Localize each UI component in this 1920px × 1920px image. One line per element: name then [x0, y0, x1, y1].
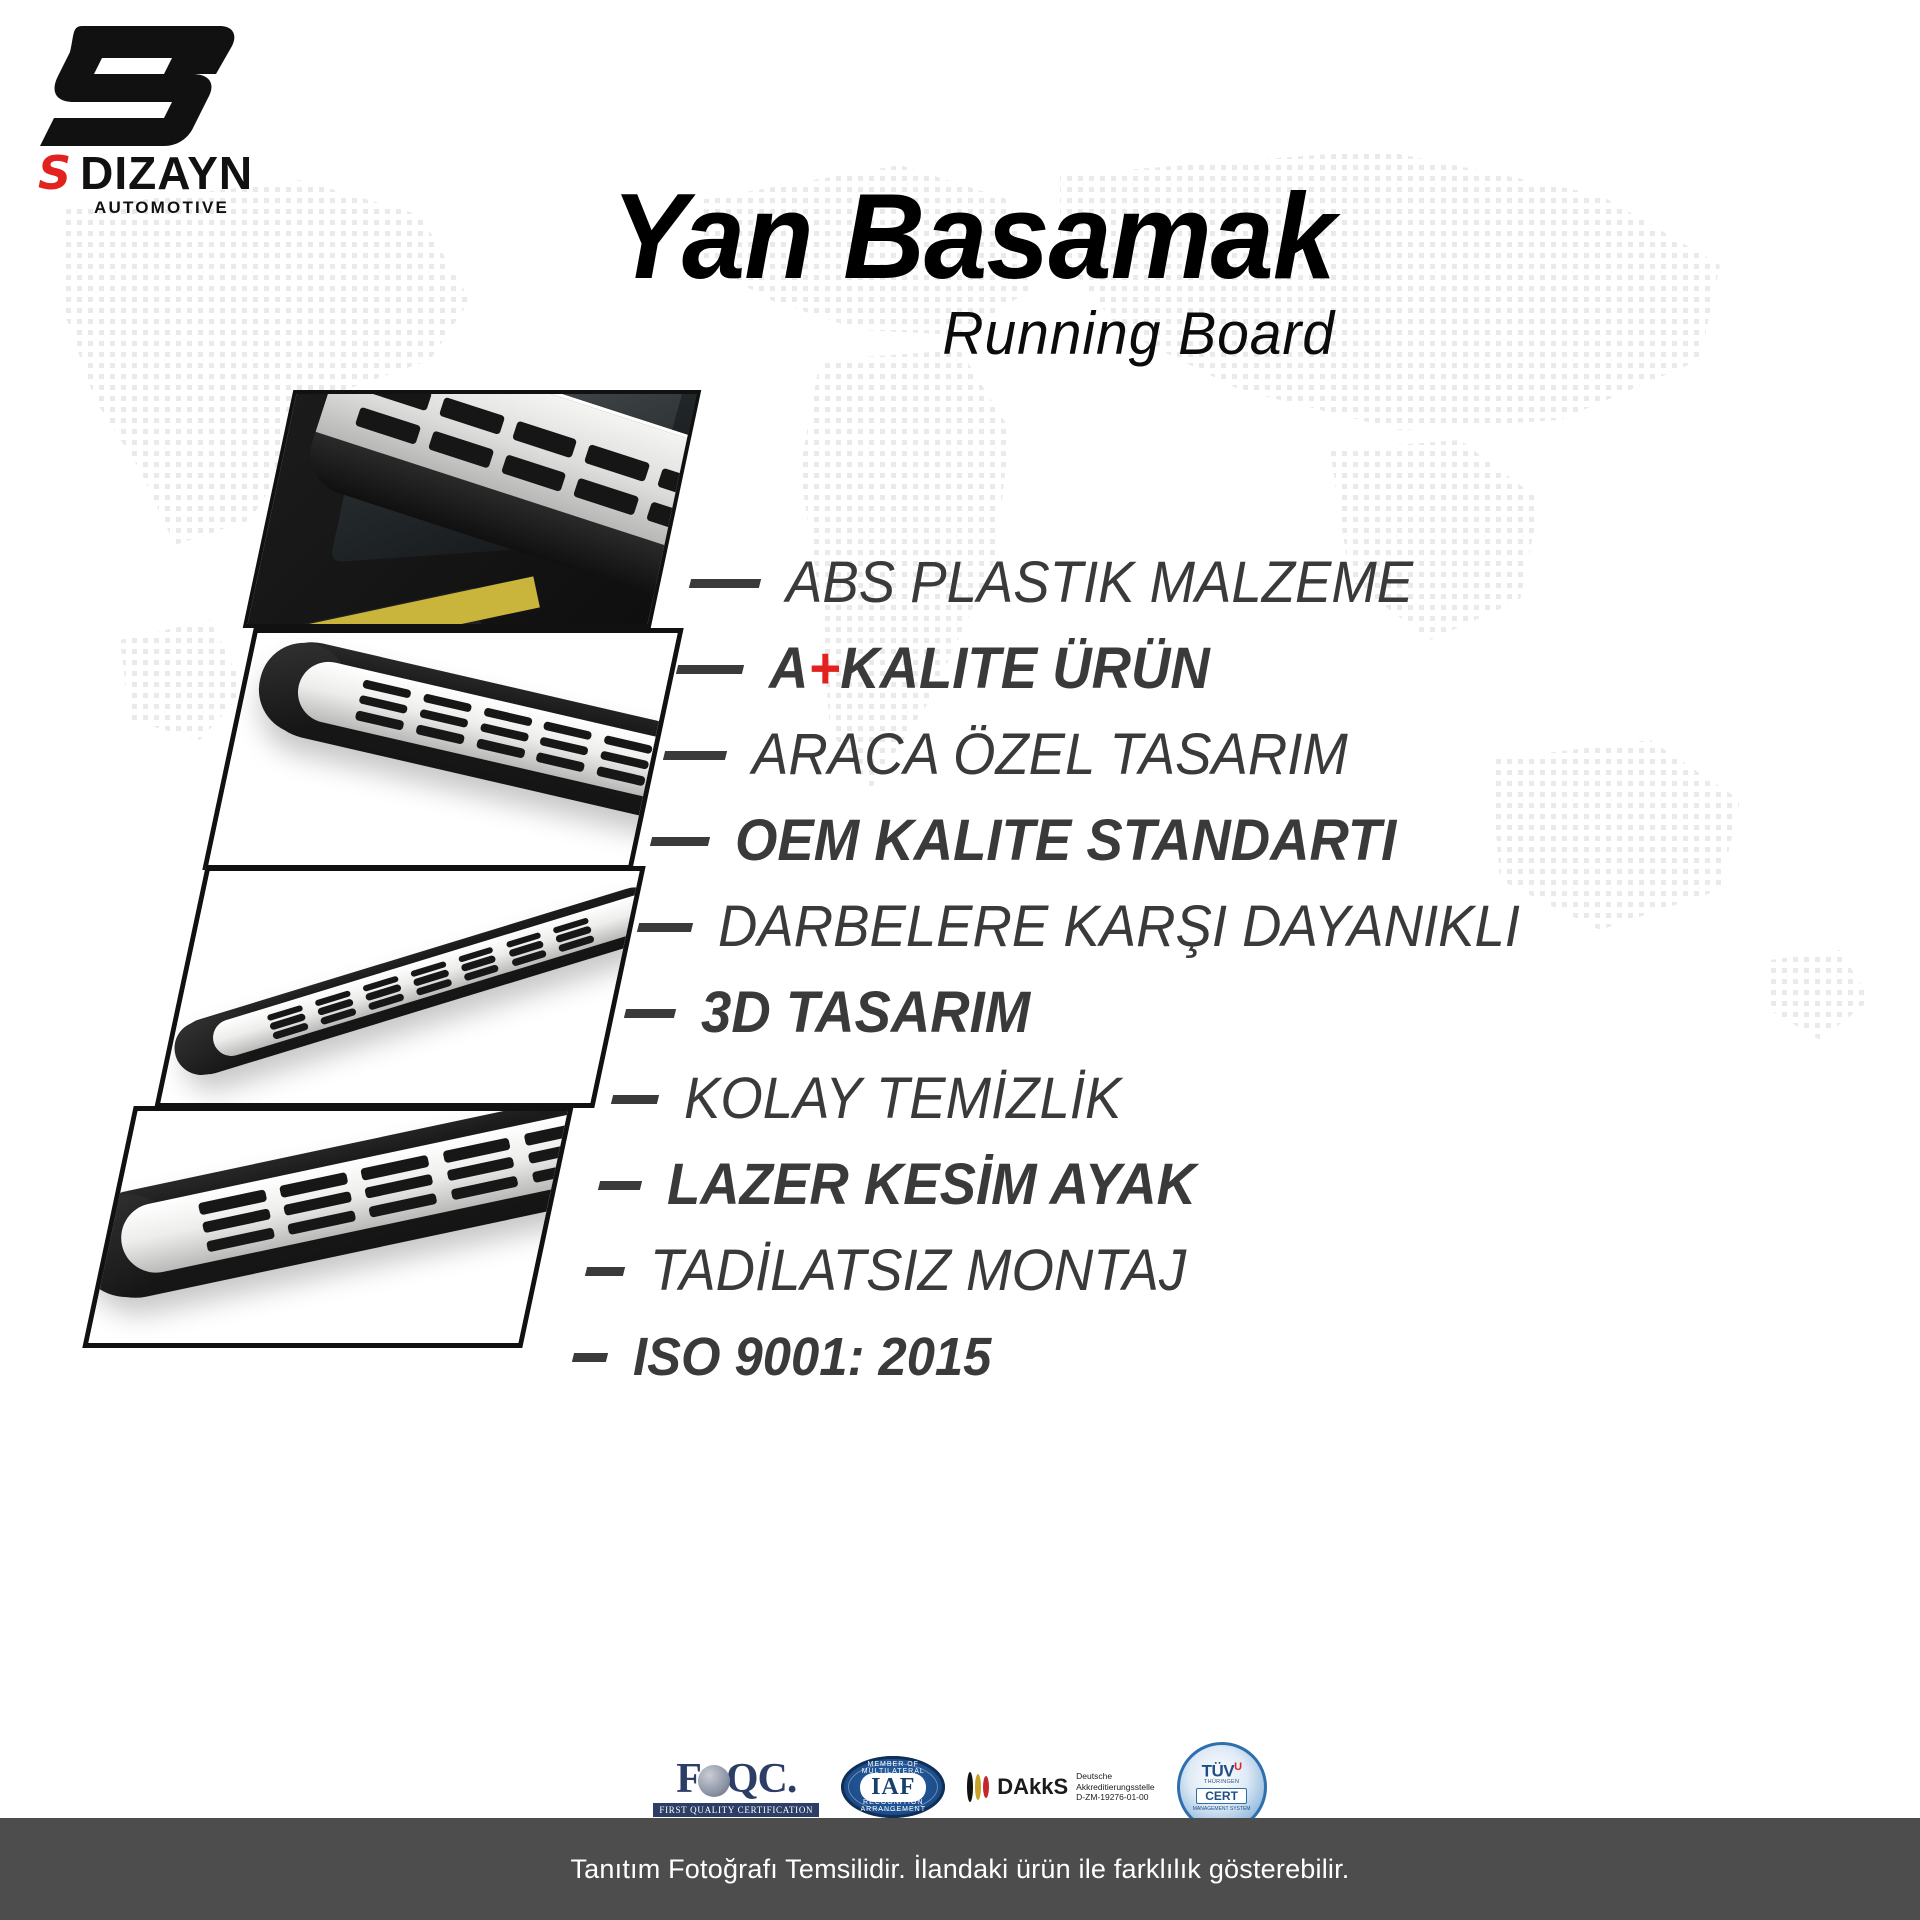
brand-name: DIZAYN: [80, 150, 253, 196]
tuv-superscript: U: [1234, 1761, 1241, 1773]
product-photo-2: [202, 628, 683, 870]
feature-item: LAZER KESİM AYAK: [599, 1142, 1900, 1228]
dakks-certification-logo: DAkkS Deutsche Akkreditierungsstelle D-Z…: [967, 1771, 1154, 1803]
product-poster: S DIZAYN AUTOMOTIVE Yan Basamak Running …: [0, 0, 1920, 1920]
feature-item: OEM KALITE STANDARTI: [651, 798, 1900, 884]
bullet-dash-icon: [598, 1181, 642, 1190]
feature-item: ISO 9001: 2015: [573, 1314, 1900, 1400]
yellow-floor-stripe: [243, 577, 540, 628]
tuv-micro-text: MANAGEMENT SYSTEM: [1193, 1806, 1251, 1812]
bullet-dash-icon: [624, 1009, 676, 1018]
running-board-angled-view: [202, 628, 683, 870]
page-title: Yan Basamak: [405, 175, 1335, 297]
feature-label: LAZER KESİM AYAK: [667, 1156, 1196, 1214]
running-board-mounted-on-vehicle: [243, 390, 702, 628]
tuv-subtitle: THÜRINGEN: [1204, 1779, 1239, 1785]
tuv-badge: CERT: [1196, 1788, 1247, 1804]
feature-label: KOLAY TEMİZLİK: [684, 1070, 1121, 1128]
feature-item: KOLAY TEMİZLİK: [612, 1056, 1900, 1142]
feature-item: A+KALITE ÜRÜN: [677, 626, 1900, 712]
running-board-end-detail-view: [82, 1106, 573, 1348]
bullet-dash-icon: [650, 837, 710, 846]
dakks-name: DAkkS: [997, 1776, 1068, 1798]
feature-item: TADİLATSIZ MONTAJ: [586, 1228, 1900, 1314]
bullet-dash-icon: [689, 579, 761, 588]
dakks-line-2: Akkreditierungsstelle: [1076, 1782, 1154, 1793]
bullet-dash-icon: [611, 1095, 659, 1104]
feature-list: ABS PLASTIK MALZEMEA+KALITE ÜRÜNARACA ÖZ…: [690, 540, 1900, 1400]
dakks-line-1: Deutsche: [1076, 1771, 1154, 1782]
feature-item: DARBELERE KARŞI DAYANIKLI: [638, 884, 1900, 970]
dakks-arcs-icon: [967, 1772, 991, 1802]
fqc-letter-qc: QC.: [726, 1758, 797, 1800]
iaf-certification-logo: MEMBER OF MULTILATERAL IAF RECOGNITION A…: [841, 1756, 945, 1818]
bullet-dash-icon: [663, 751, 727, 760]
tuv-name: TÜV: [1202, 1761, 1235, 1780]
iaf-name: IAF: [860, 1773, 926, 1802]
bullet-dash-icon: [585, 1267, 625, 1276]
globe-icon: [698, 1765, 730, 1797]
product-photo-3: [154, 866, 645, 1108]
s-dizayn-monogram-icon: [24, 18, 274, 148]
feature-item: 3D TASARIM: [625, 970, 1900, 1056]
feature-label: ARACA ÖZEL TASARIM: [752, 726, 1348, 784]
feature-label: TADİLATSIZ MONTAJ: [650, 1242, 1186, 1300]
product-photo-1: [243, 390, 702, 628]
footer-disclaimer: Tanıtım Fotoğrafı Temsilidir. İlandaki ü…: [570, 1854, 1349, 1885]
feature-item: ABS PLASTIK MALZEME: [690, 540, 1900, 626]
accent-plus-sign: +: [808, 636, 840, 701]
product-photo-4: [82, 1106, 573, 1348]
page-subtitle: Running Board: [385, 299, 1335, 368]
running-board-full-length-view: [154, 866, 645, 1108]
feature-label: A+KALITE ÜRÜN: [769, 640, 1210, 698]
footer-bar: Tanıtım Fotoğrafı Temsilidir. İlandaki ü…: [0, 1818, 1920, 1920]
feature-label: OEM KALITE STANDARTI: [735, 812, 1396, 870]
feature-label: ABS PLASTIK MALZEME: [786, 554, 1413, 612]
brand-tagline: AUTOMOTIVE: [24, 198, 294, 218]
dakks-line-3: D-ZM-19276-01-00: [1076, 1792, 1154, 1803]
brand-s-letter: S: [38, 150, 70, 196]
fqc-subtitle: FIRST QUALITY CERTIFICATION: [653, 1803, 819, 1817]
feature-label: 3D TASARIM: [701, 984, 1030, 1042]
title-block: Yan Basamak Running Board: [335, 175, 1335, 368]
bullet-dash-icon: [572, 1353, 608, 1362]
brand-logo[interactable]: S DIZAYN AUTOMOTIVE: [24, 18, 294, 218]
fqc-certification-logo: F QC. FIRST QUALITY CERTIFICATION: [653, 1758, 819, 1817]
feature-item: ARACA ÖZEL TASARIM: [664, 712, 1900, 798]
bullet-dash-icon: [676, 665, 744, 674]
bullet-dash-icon: [637, 923, 693, 932]
feature-label: DARBELERE KARŞI DAYANIKLI: [718, 898, 1520, 956]
feature-label: ISO 9001: 2015: [633, 1330, 991, 1384]
